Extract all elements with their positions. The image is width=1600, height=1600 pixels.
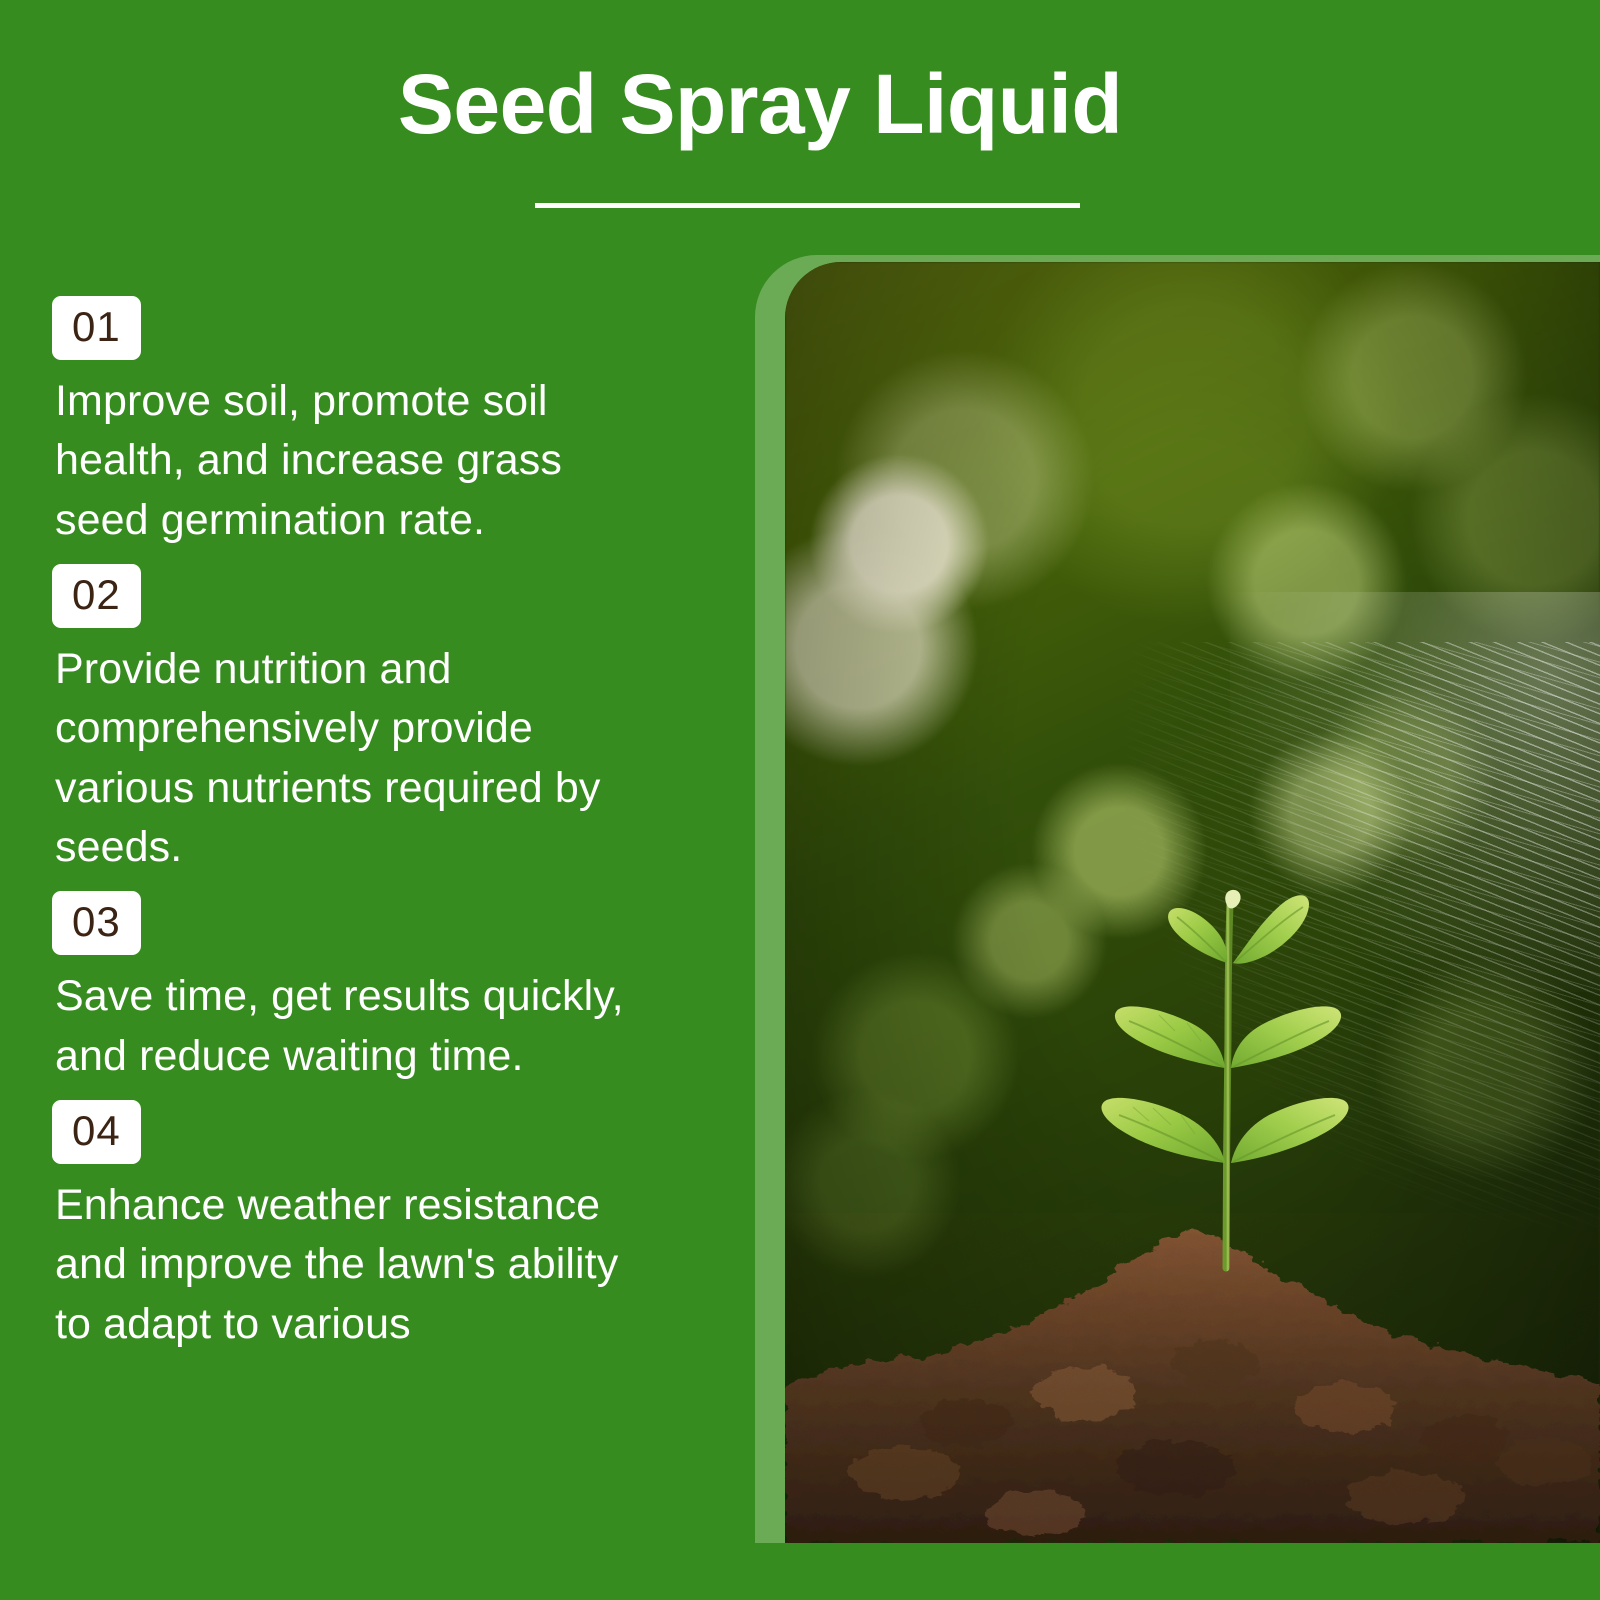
- seedling-plant-icon: [1063, 863, 1393, 1273]
- feature-description: Enhance weather resistance and improve t…: [55, 1176, 655, 1354]
- feature-item-01: 01 Improve soil, promote soil health, an…: [0, 296, 700, 550]
- feature-item-02: 02 Provide nutrition and comprehensively…: [0, 564, 700, 877]
- title-divider: [535, 203, 1080, 208]
- feature-description: Provide nutrition and comprehensively pr…: [55, 640, 655, 877]
- product-photo: [785, 262, 1600, 1543]
- feature-item-04: 04 Enhance weather resistance and improv…: [0, 1100, 700, 1354]
- feature-description: Improve soil, promote soil health, and i…: [55, 372, 655, 550]
- feature-number-badge: 02: [52, 564, 141, 628]
- feature-number-badge: 04: [52, 1100, 141, 1164]
- page-title: Seed Spray Liquid: [0, 62, 1520, 146]
- feature-description: Save time, get results quickly, and redu…: [55, 967, 655, 1086]
- feature-list: 01 Improve soil, promote soil health, an…: [0, 296, 700, 1368]
- feature-item-03: 03 Save time, get results quickly, and r…: [0, 891, 700, 1086]
- feature-number-badge: 03: [52, 891, 141, 955]
- feature-number-badge: 01: [52, 296, 141, 360]
- header: Seed Spray Liquid: [0, 0, 1600, 240]
